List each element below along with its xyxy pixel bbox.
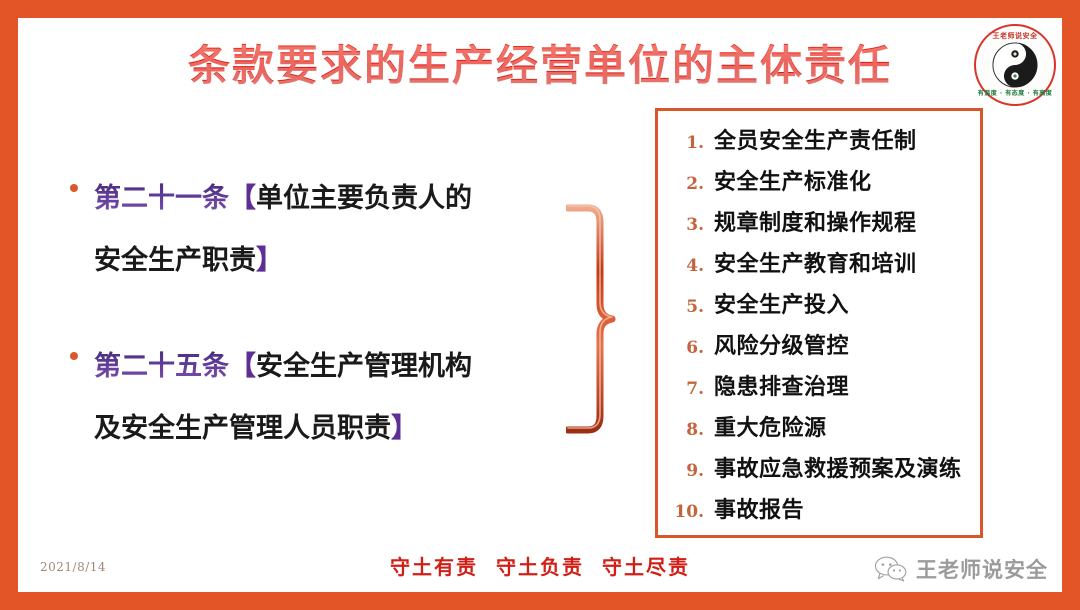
duty-item: 2. 安全生产标准化 xyxy=(658,164,980,205)
duty-item: 10. 事故报告 xyxy=(658,492,980,533)
brand-logo: 王老师说安全 有温度 · 有态度 · 有高度 xyxy=(974,24,1056,106)
duty-item: 4. 安全生产教育和培训 xyxy=(658,246,980,287)
duty-text: 安全生产投入 xyxy=(714,287,849,319)
page-title: 条款要求的生产经营单位的主体责任 xyxy=(18,32,1062,93)
duty-list-box: 1. 全员安全生产责任制 2. 安全生产标准化 3. 规章制度和操作规程 4. … xyxy=(655,108,983,538)
clause-number: 第二十五条 xyxy=(94,351,229,382)
clause-bracket-close: 】 xyxy=(391,413,418,444)
clause-item: 第二十一条【单位主要负责人的 安全生产职责】 xyxy=(60,168,560,292)
watermark-text: 王老师说安全 xyxy=(916,554,1048,584)
duty-number: 1. xyxy=(670,133,714,153)
clause-body-line-1: 单位主要负责人的 xyxy=(256,183,472,214)
slogan-segment: 守土负责 xyxy=(496,555,584,579)
brand-logo-bottom-text: 有温度 · 有态度 · 有高度 xyxy=(976,91,1054,97)
duty-number: 8. xyxy=(670,420,714,440)
clause-item: 第二十五条【安全生产管理机构 及安全生产管理人员职责】 xyxy=(60,336,560,460)
slide-canvas: 条款要求的生产经营单位的主体责任 王老师说安全 有温度 · 有态度 · 有高度 … xyxy=(18,18,1062,592)
brand-logo-top-text: 王老师说安全 xyxy=(976,33,1054,40)
clause-line-1: 第二十五条【安全生产管理机构 xyxy=(94,336,560,398)
clause-body-line-2: 安全生产职责 xyxy=(94,245,256,276)
duty-text: 安全生产教育和培训 xyxy=(714,246,917,278)
duty-item: 9. 事故应急救援预案及演练 xyxy=(658,451,980,492)
clause-body-line-2: 及安全生产管理人员职责 xyxy=(94,413,391,444)
duty-text: 规章制度和操作规程 xyxy=(714,205,917,237)
clause-body-line-1: 安全生产管理机构 xyxy=(256,351,472,382)
wechat-icon xyxy=(874,556,908,582)
clause-bracket-open: 【 xyxy=(229,183,256,214)
clause-list: 第二十一条【单位主要负责人的 安全生产职责】 第二十五条【安全生产管理机构 及安… xyxy=(60,168,560,460)
duty-number: 9. xyxy=(670,461,714,481)
duty-text: 事故应急救援预案及演练 xyxy=(714,451,962,483)
slogan-segment: 守土有责 xyxy=(390,555,478,579)
watermark: 王老师说安全 xyxy=(874,554,1048,584)
duty-number: 2. xyxy=(670,174,714,194)
duty-item: 8. 重大危险源 xyxy=(658,410,980,451)
duty-item: 5. 安全生产投入 xyxy=(658,287,980,328)
clause-bracket-close: 】 xyxy=(256,245,283,276)
duty-text: 隐患排查治理 xyxy=(714,369,849,401)
clause-number: 第二十一条 xyxy=(94,183,229,214)
bullet-dot-icon xyxy=(70,184,78,192)
duty-number: 7. xyxy=(670,379,714,399)
duty-item: 3. 规章制度和操作规程 xyxy=(658,205,980,246)
duty-number: 6. xyxy=(670,338,714,358)
duty-number: 10. xyxy=(670,502,714,522)
duty-item: 7. 隐患排查治理 xyxy=(658,369,980,410)
duty-text: 风险分级管控 xyxy=(714,328,849,360)
duty-text: 事故报告 xyxy=(714,492,804,524)
bullet-dot-icon xyxy=(70,352,78,360)
duty-text: 全员安全生产责任制 xyxy=(714,123,917,155)
duty-number: 5. xyxy=(670,297,714,317)
clause-line-2: 及安全生产管理人员职责】 xyxy=(94,398,560,460)
right-brace-icon xyxy=(566,204,646,434)
clause-line-2: 安全生产职责】 xyxy=(94,230,560,292)
duty-item: 1. 全员安全生产责任制 xyxy=(658,123,980,164)
duty-text: 重大危险源 xyxy=(714,410,827,442)
taiji-icon xyxy=(992,42,1038,88)
clause-line-1: 第二十一条【单位主要负责人的 xyxy=(94,168,560,230)
duty-number: 4. xyxy=(670,256,714,276)
duty-number: 3. xyxy=(670,215,714,235)
duty-text: 安全生产标准化 xyxy=(714,164,872,196)
clause-bracket-open: 【 xyxy=(229,351,256,382)
duty-item: 6. 风险分级管控 xyxy=(658,328,980,369)
slide: 条款要求的生产经营单位的主体责任 王老师说安全 有温度 · 有态度 · 有高度 … xyxy=(0,0,1080,610)
slogan-segment: 守土尽责 xyxy=(602,555,690,579)
